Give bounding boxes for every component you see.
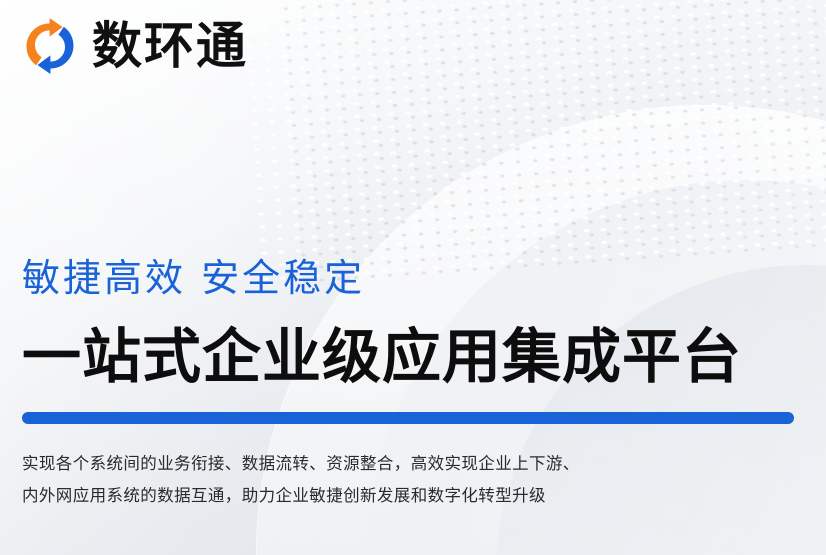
brand-name: 数环通 <box>92 21 248 71</box>
hero-banner: 数环通 敏捷高效 安全稳定 一站式企业级应用集成平台 实现各个系统间的业务衔接、… <box>0 0 826 555</box>
decorative-dot-mesh-shadow <box>276 0 826 289</box>
hero-description-line-1: 实现各个系统间的业务衔接、数据流转、资源整合，高效实现企业上下游、 <box>22 448 806 480</box>
decorative-dot-mesh <box>235 0 826 291</box>
hero-copy: 敏捷高效 安全稳定 一站式企业级应用集成平台 实现各个系统间的业务衔接、数据流转… <box>22 258 806 512</box>
hero-divider <box>22 412 794 424</box>
brand-logo[interactable]: 数环通 <box>22 18 248 74</box>
hero-description-line-2: 内外网应用系统的数据互通，助力企业敏捷创新发展和数字化转型升级 <box>22 480 806 512</box>
hero-headline: 一站式企业级应用集成平台 <box>22 326 806 388</box>
hero-description: 实现各个系统间的业务衔接、数据流转、资源整合，高效实现企业上下游、 内外网应用系… <box>22 448 806 512</box>
swirl-arrows-logo-icon <box>22 18 78 74</box>
hero-kicker: 敏捷高效 安全稳定 <box>22 258 806 300</box>
